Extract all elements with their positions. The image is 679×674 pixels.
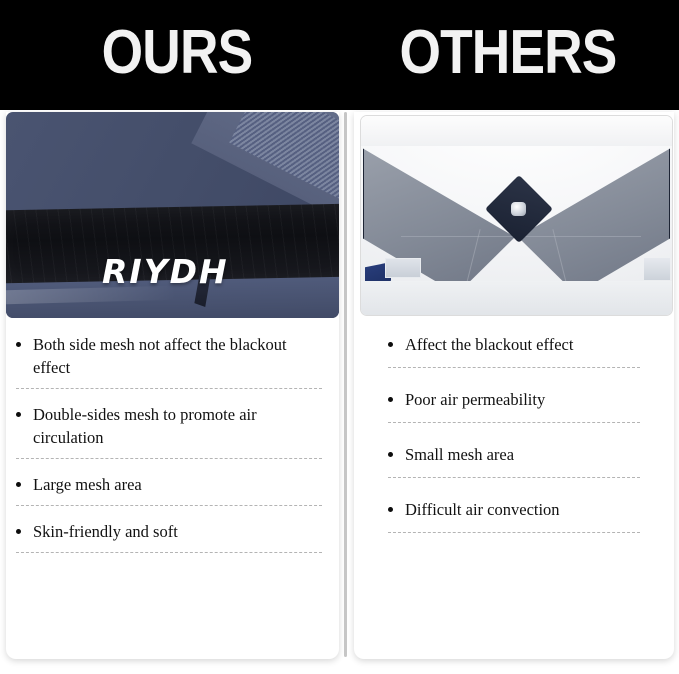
list-item: Both side mesh not affect the blackout e… <box>16 333 322 388</box>
bullet-icon <box>16 342 21 347</box>
header-title-others: OTHERS <box>395 18 620 88</box>
list-item: Small mesh area <box>388 443 640 477</box>
feature-text: Affect the blackout effect <box>405 333 573 356</box>
feature-text: Large mesh area <box>33 473 142 496</box>
feature-text: Small mesh area <box>405 443 514 466</box>
bullet-icon <box>16 529 21 534</box>
bullet-icon <box>388 342 393 347</box>
dashed-separator <box>16 458 322 459</box>
dashed-separator <box>16 505 322 506</box>
list-item: Double-sides mesh to promote air circula… <box>16 403 322 458</box>
bullet-icon <box>388 452 393 457</box>
bullet-icon <box>16 482 21 487</box>
ours-feature-list: Both side mesh not affect the blackout e… <box>16 333 322 567</box>
feature-text: Both side mesh not affect the blackout e… <box>33 333 322 379</box>
ours-product-photo: RIYDH <box>6 112 339 318</box>
dashed-separator <box>388 422 640 423</box>
side-window-right <box>644 258 670 280</box>
dashed-separator <box>16 552 322 553</box>
brand-logo-text: RIYDH <box>102 252 229 291</box>
tent-ceiling <box>361 116 672 146</box>
bullet-icon <box>388 397 393 402</box>
list-item: Difficult air convection <box>388 498 640 532</box>
dashed-separator <box>16 388 322 389</box>
dashed-separator <box>388 477 640 478</box>
list-item: Affect the blackout effect <box>388 333 640 367</box>
others-feature-list: Affect the blackout effect Poor air perm… <box>388 333 640 553</box>
list-item: Poor air permeability <box>388 388 640 422</box>
bullet-icon <box>388 507 393 512</box>
column-divider <box>344 112 347 657</box>
comparison-header: OURS OTHERS <box>0 0 679 110</box>
list-item: Skin-friendly and soft <box>16 520 322 552</box>
side-window-left <box>385 258 421 278</box>
center-hub-icon <box>511 202 526 216</box>
dashed-separator <box>388 532 640 533</box>
header-title-ours: OURS <box>78 18 276 88</box>
list-item: Large mesh area <box>16 473 322 505</box>
feature-text: Double-sides mesh to promote air circula… <box>33 403 322 449</box>
tent-floor <box>361 281 672 315</box>
others-product-photo <box>360 115 673 316</box>
white-tent-body <box>361 116 672 315</box>
feature-text: Difficult air convection <box>405 498 560 521</box>
feature-text: Poor air permeability <box>405 388 545 411</box>
bullet-icon <box>16 412 21 417</box>
feature-text: Skin-friendly and soft <box>33 520 178 543</box>
dashed-separator <box>388 367 640 368</box>
